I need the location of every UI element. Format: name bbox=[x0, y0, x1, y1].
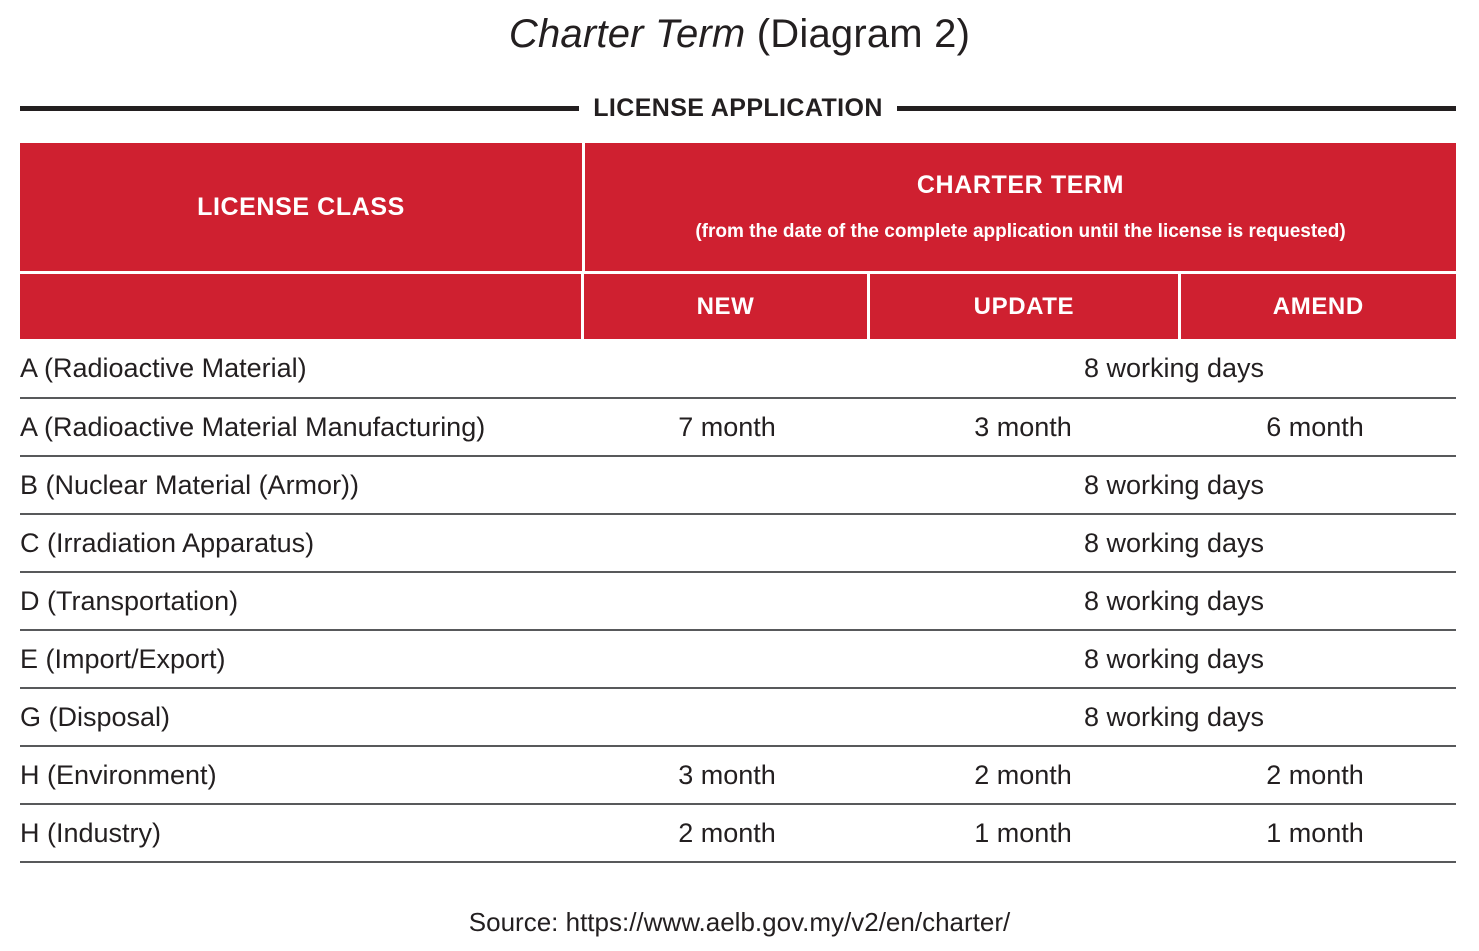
table-header-row-columns: NEW UPDATE AMEND bbox=[20, 274, 1456, 339]
row-license-class: H (Environment) bbox=[20, 759, 582, 791]
rule-line-left bbox=[20, 106, 579, 111]
row-value-new: 2 month bbox=[585, 817, 869, 849]
row-value-merged-text: 8 working days bbox=[740, 469, 1479, 501]
row-value-merged: 8 working days bbox=[585, 352, 1453, 384]
page-title-italic: Charter Term bbox=[509, 12, 746, 56]
table-header: LICENSE CLASS CHARTER TERM (from the dat… bbox=[20, 143, 1456, 339]
table-row: A (Radioactive Material Manufacturing)7 … bbox=[20, 399, 1456, 457]
row-value-merged: 8 working days bbox=[585, 585, 1453, 617]
table-row: A (Radioactive Material)8 working days bbox=[20, 339, 1456, 399]
row-value-merged-text: 8 working days bbox=[740, 585, 1479, 617]
row-value-merged-text: 8 working days bbox=[740, 352, 1479, 384]
header-charter-term-label: CHARTER TERM bbox=[917, 170, 1124, 200]
header-update-label: UPDATE bbox=[974, 293, 1075, 321]
row-value-update: 1 month bbox=[869, 817, 1177, 849]
row-license-class: B (Nuclear Material (Armor)) bbox=[20, 469, 582, 501]
table-row: C (Irradiation Apparatus)8 working days bbox=[20, 515, 1456, 573]
header-cell-amend: AMEND bbox=[1181, 274, 1456, 339]
section-label: LICENSE APPLICATION bbox=[593, 94, 883, 123]
header-cell-charter-term: CHARTER TERM (from the date of the compl… bbox=[585, 143, 1456, 271]
row-license-class: A (Radioactive Material Manufacturing) bbox=[20, 411, 582, 443]
row-value-new: 3 month bbox=[585, 759, 869, 791]
table-row: D (Transportation)8 working days bbox=[20, 573, 1456, 631]
row-value-update: 2 month bbox=[869, 759, 1177, 791]
header-cell-update: UPDATE bbox=[870, 274, 1177, 339]
charter-term-table: LICENSE CLASS CHARTER TERM (from the dat… bbox=[20, 143, 1456, 863]
table-row: E (Import/Export)8 working days bbox=[20, 631, 1456, 689]
table-row: H (Environment)3 month2 month2 month bbox=[20, 747, 1456, 805]
row-value-merged-text: 8 working days bbox=[740, 643, 1479, 675]
row-license-class: G (Disposal) bbox=[20, 701, 582, 733]
row-license-class: D (Transportation) bbox=[20, 585, 582, 617]
row-license-class: E (Import/Export) bbox=[20, 643, 582, 675]
row-value-merged: 8 working days bbox=[585, 701, 1453, 733]
source-note: Source: https://www.aelb.gov.my/v2/en/ch… bbox=[0, 905, 1479, 939]
table-body: A (Radioactive Material)8 working daysA … bbox=[20, 339, 1456, 863]
table-row: G (Disposal)8 working days bbox=[20, 689, 1456, 747]
header-cell-license-class: LICENSE CLASS bbox=[20, 143, 582, 271]
header-license-class-label: LICENSE CLASS bbox=[197, 192, 405, 222]
row-value-new: 7 month bbox=[585, 411, 869, 443]
row-value-update: 3 month bbox=[869, 411, 1177, 443]
page-title: Charter Term (Diagram 2) bbox=[0, 8, 1479, 60]
row-value-merged-text: 8 working days bbox=[740, 527, 1479, 559]
row-value-merged: 8 working days bbox=[585, 527, 1453, 559]
row-value-amend: 2 month bbox=[1177, 759, 1453, 791]
row-value-amend: 6 month bbox=[1177, 411, 1453, 443]
row-value-merged: 8 working days bbox=[585, 643, 1453, 675]
rule-line-right bbox=[897, 106, 1456, 111]
header-charter-term-subtitle: (from the date of the complete applicati… bbox=[687, 220, 1353, 244]
header-new-label: NEW bbox=[697, 293, 755, 321]
row-license-class: A (Radioactive Material) bbox=[20, 352, 582, 384]
row-value-merged: 8 working days bbox=[585, 469, 1453, 501]
row-value-amend: 1 month bbox=[1177, 817, 1453, 849]
table-header-row-top: LICENSE CLASS CHARTER TERM (from the dat… bbox=[20, 143, 1456, 271]
header-amend-label: AMEND bbox=[1273, 293, 1364, 321]
row-license-class: C (Irradiation Apparatus) bbox=[20, 527, 582, 559]
row-license-class: H (Industry) bbox=[20, 817, 582, 849]
header-cell-blank bbox=[20, 274, 581, 339]
table-row: B (Nuclear Material (Armor))8 working da… bbox=[20, 457, 1456, 515]
row-value-merged-text: 8 working days bbox=[740, 701, 1479, 733]
section-rule: LICENSE APPLICATION bbox=[20, 93, 1456, 123]
header-cell-new: NEW bbox=[584, 274, 867, 339]
table-row: H (Industry)2 month1 month1 month bbox=[20, 805, 1456, 863]
page-title-plain: (Diagram 2) bbox=[745, 12, 970, 56]
